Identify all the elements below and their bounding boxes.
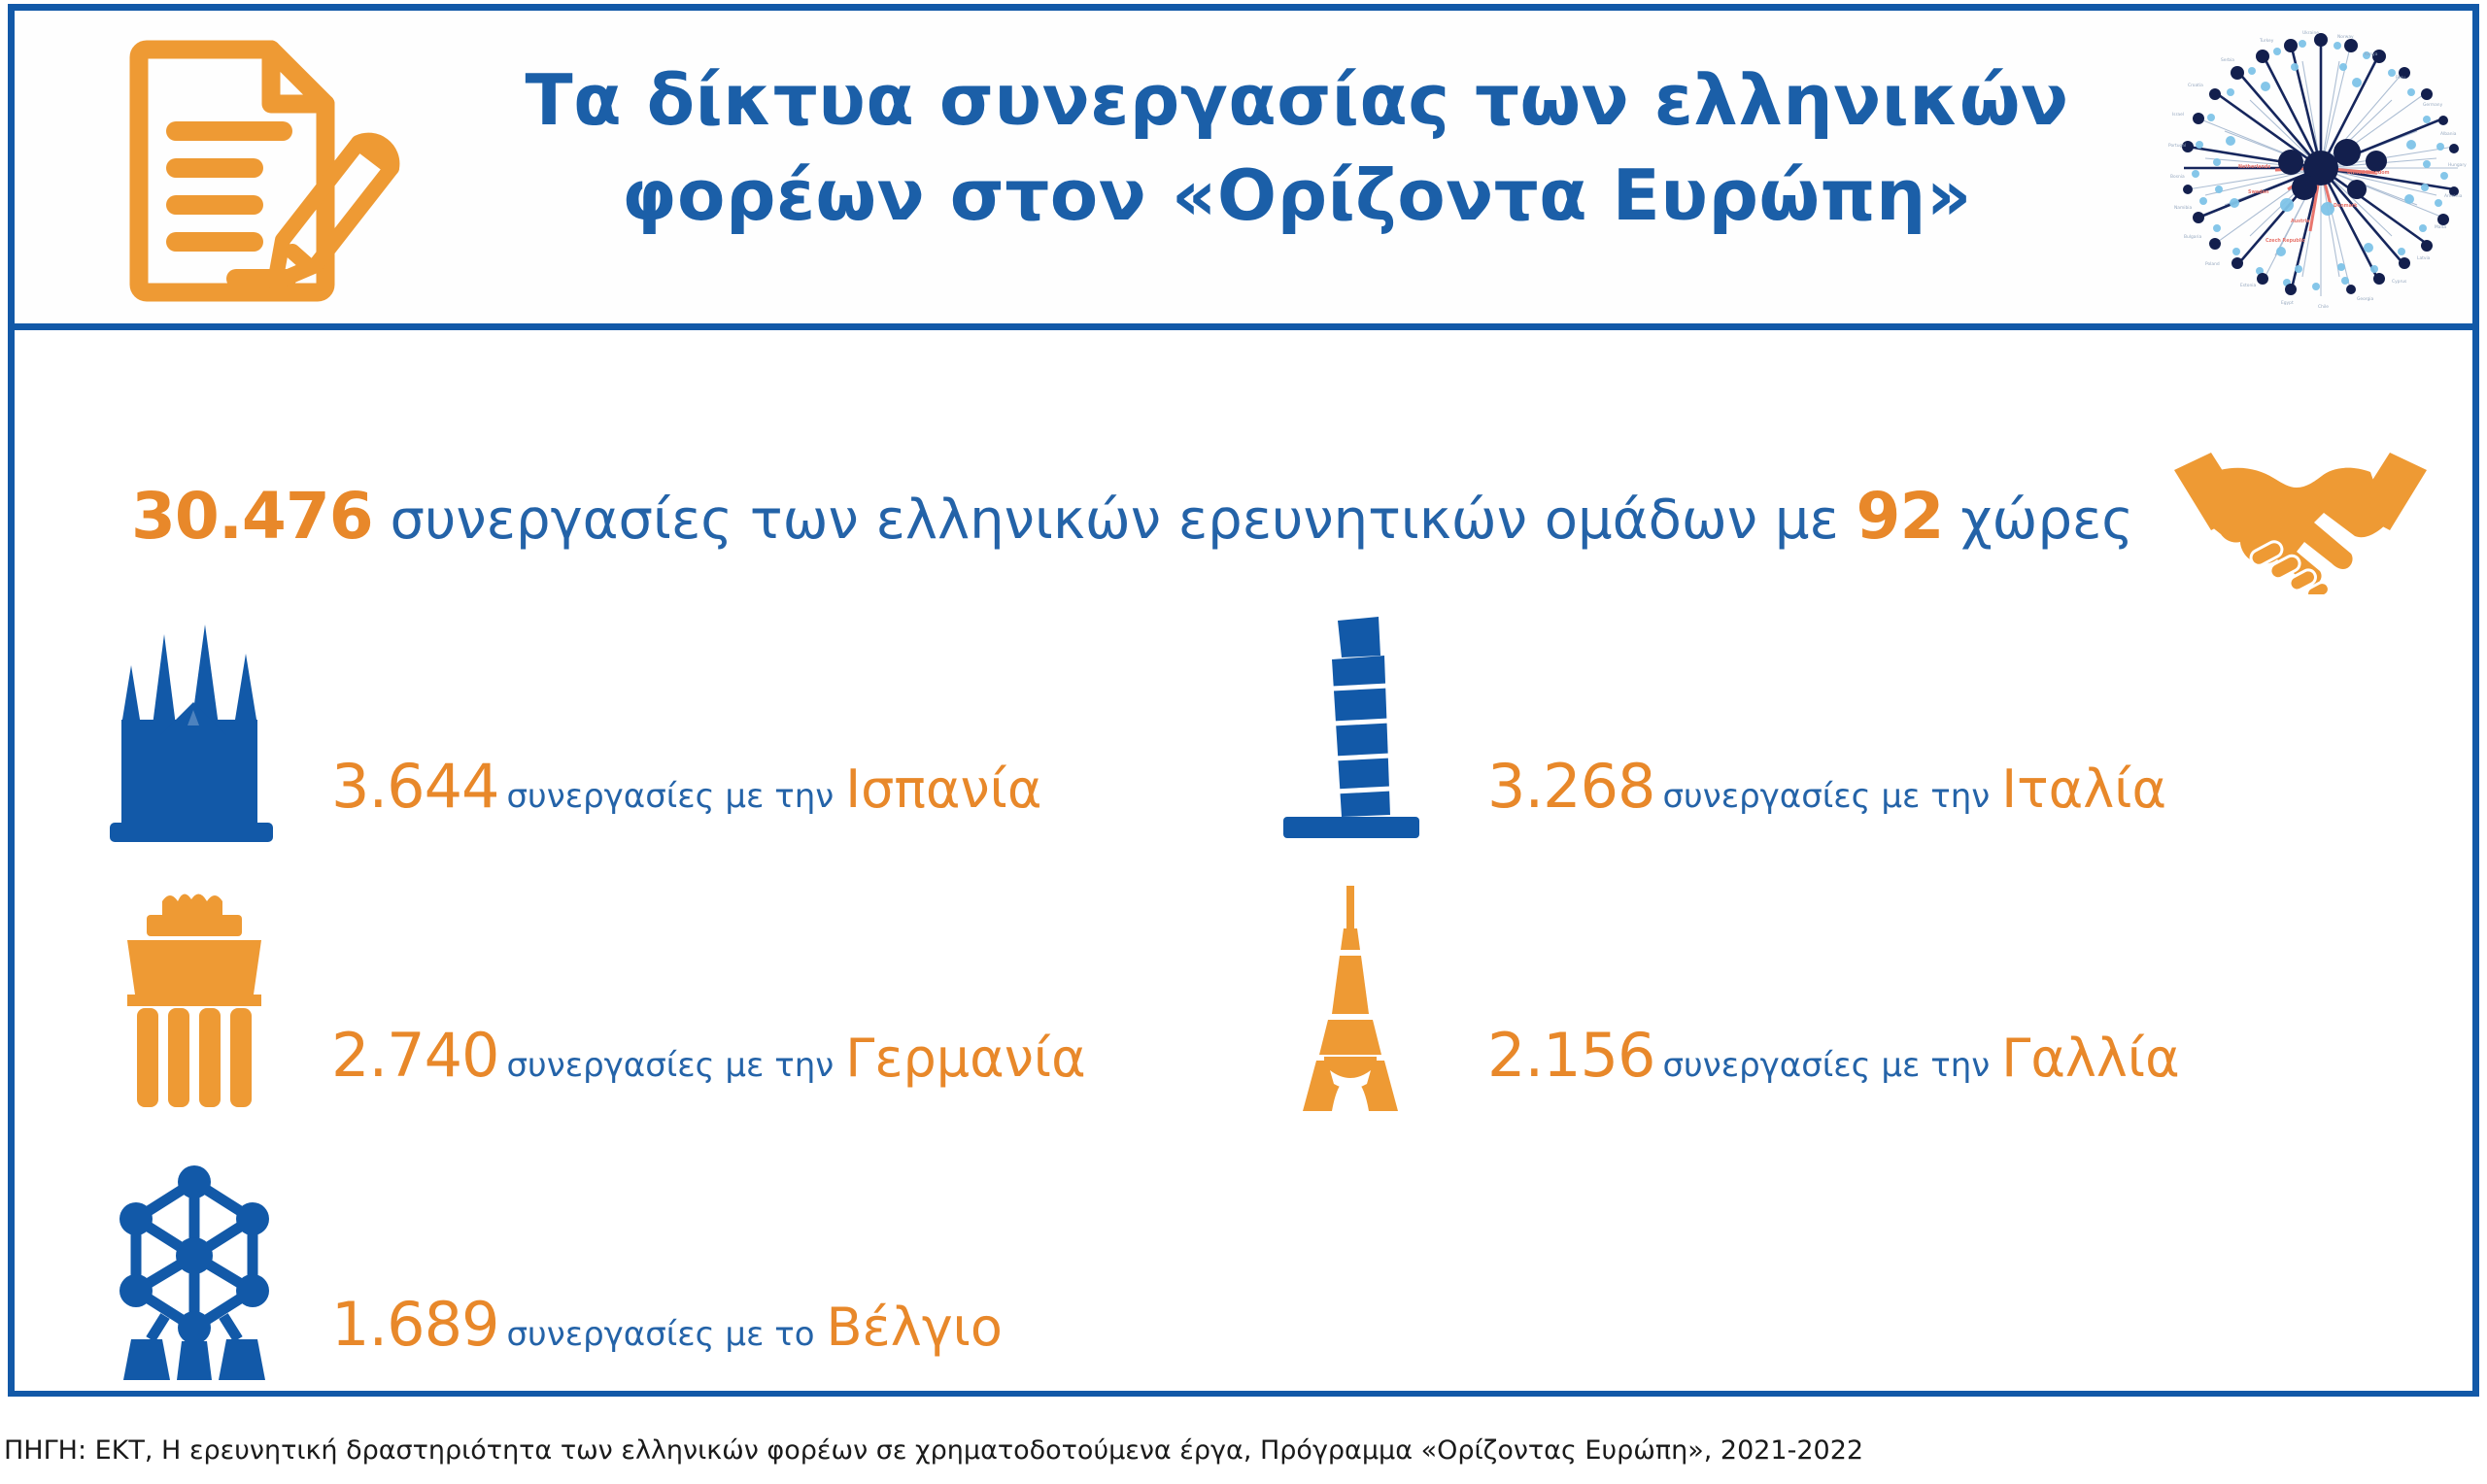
headline-mid-text: συνεργασίες των ελληνικών ερευνητικών ομ… (391, 489, 1839, 552)
document-pencil-icon (119, 28, 411, 312)
country-name: Γερμανία (845, 1028, 1086, 1089)
country-row-3: 1.689συνεργασίες με τοΒέλγιο (15, 1123, 2472, 1392)
svg-text:Austria: Austria (2291, 219, 2310, 224)
country-name: Γαλλία (2001, 1028, 2179, 1089)
country-value: 1.689 (331, 1289, 499, 1360)
country-cell-france: 2.156συνεργασίες με τηνΓαλλία (1248, 854, 2180, 1123)
country-text-italy: 3.268συνεργασίες με τηνΙταλία (1487, 757, 2166, 817)
title-line-2: φορέων στον «Ορίζοντα Ευρώπη» (471, 149, 2123, 244)
country-cell-italy: 3.268συνεργασίες με τηνΙταλία (1248, 585, 2166, 854)
country-text-spain: 3.644συνεργασίες με τηνΙσπανία (331, 757, 1042, 817)
svg-text:Namibia: Namibia (2174, 205, 2192, 211)
title-line-1: Τα δίκτυα συνεργασίας των ελληνικών (471, 53, 2123, 149)
svg-text:Poland: Poland (2205, 261, 2220, 267)
country-middle-text: συνεργασίες με την (507, 1046, 835, 1085)
country-row-2: 2.740συνεργασίες με τηνΓερμανία (15, 854, 2472, 1123)
country-text-belgium: 1.689συνεργασίες με τοΒέλγιο (331, 1295, 1003, 1355)
svg-text:Israel: Israel (2172, 112, 2184, 118)
country-text-france: 2.156συνεργασίες με τηνΓαλλία (1487, 1026, 2180, 1086)
country-cell-belgium: 1.689συνεργασίες με τοΒέλγιο (92, 1123, 1003, 1392)
leaning-tower-of-pisa-icon (1248, 611, 1452, 854)
country-value: 2.156 (1487, 1020, 1655, 1091)
svg-text:Netherlands: Netherlands (2238, 164, 2270, 170)
svg-text:Georgia: Georgia (2357, 296, 2374, 302)
country-name: Βέλγιο (827, 1297, 1003, 1358)
svg-text:Sweden: Sweden (2248, 189, 2269, 195)
svg-text:Turkey: Turkey (2259, 38, 2274, 44)
svg-text:Germany: Germany (2423, 102, 2443, 108)
country-text-germany: 2.740συνεργασίες με τηνΓερμανία (331, 1026, 1086, 1086)
page-title: Τα δίκτυα συνεργασίας των ελληνικών φορέ… (471, 53, 2123, 244)
svg-text:Ukraine: Ukraine (2302, 30, 2319, 36)
headline-end-text: χώρες (1960, 489, 2133, 552)
svg-text:Portugal: Portugal (2168, 143, 2186, 149)
eiffel-tower-icon (1248, 880, 1452, 1123)
source-note: ΠΗΓΗ: ΕΚΤ, Η ερευνητική δραστηριότητα τω… (4, 1435, 1863, 1466)
country-cell-spain: 3.644συνεργασίες με τηνΙσπανία (92, 585, 1042, 854)
total-countries-value: 92 (1857, 479, 1944, 554)
country-middle-text: συνεργασίες με την (507, 777, 835, 816)
network-graph-icon: UkraineTurkeySerbia CroatiaIsraelPortuga… (2166, 22, 2475, 316)
sagrada-familia-icon (92, 611, 296, 854)
headline-stat-row: 30.476 συνεργασίες των ελληνικών ερευνητ… (131, 439, 2152, 594)
svg-text:Bulgaria: Bulgaria (2184, 234, 2202, 240)
country-middle-text: συνεργασίες με την (1663, 777, 1991, 816)
svg-text:Malta: Malta (2435, 224, 2446, 230)
country-middle-text: συνεργασίες με την (1663, 1046, 1991, 1085)
svg-text:Armenia: Armenia (2444, 193, 2463, 199)
svg-text:Egypt: Egypt (2281, 300, 2294, 306)
header-band: Τα δίκτυα συνεργασίας των ελληνικών φορέ… (15, 11, 2472, 330)
atomium-icon (92, 1149, 296, 1392)
total-collaborations-value: 30.476 (131, 479, 373, 554)
svg-text:Hungary: Hungary (2448, 162, 2467, 168)
country-value: 3.644 (331, 751, 499, 822)
svg-text:Norway: Norway (2337, 34, 2354, 40)
svg-text:Croatia: Croatia (2188, 83, 2203, 88)
svg-text:Kenya: Kenya (2365, 51, 2378, 57)
svg-text:Albania: Albania (2440, 131, 2457, 137)
country-name: Ιταλία (2001, 759, 2166, 820)
svg-text:Czech Republic: Czech Republic (2266, 238, 2305, 244)
headline-text: 30.476 συνεργασίες των ελληνικών ερευνητ… (131, 485, 2133, 549)
handshake-icon (2168, 439, 2433, 594)
svg-text:United Kingdom: United Kingdom (2347, 170, 2390, 176)
svg-text:Denmark: Denmark (2334, 203, 2358, 209)
svg-text:Latvia: Latvia (2417, 255, 2431, 261)
body-area: 30.476 συνεργασίες των ελληνικών ερευνητ… (15, 337, 2472, 1391)
main-frame: Τα δίκτυα συνεργασίας των ελληνικών φορέ… (8, 4, 2479, 1397)
country-name: Ισπανία (845, 759, 1041, 820)
svg-text:Cyprus: Cyprus (2392, 279, 2407, 285)
brandenburg-gate-icon (92, 880, 296, 1123)
country-cell-germany: 2.740συνεργασίες με τηνΓερμανία (92, 854, 1086, 1123)
svg-text:Chile: Chile (2318, 304, 2329, 310)
svg-text:Serbia: Serbia (2221, 57, 2234, 63)
country-value: 3.268 (1487, 751, 1655, 822)
country-grid: 3.644συνεργασίες με τηνΙσπανία (15, 585, 2472, 1392)
svg-text:Peru: Peru (2396, 75, 2405, 81)
svg-text:Estonia: Estonia (2240, 283, 2256, 288)
country-middle-text: συνεργασίες με το (507, 1315, 815, 1354)
svg-text:Bosnia: Bosnia (2170, 174, 2185, 180)
infographic-poster: Τα δίκτυα συνεργασίας των ελληνικών φορέ… (0, 0, 2487, 1484)
country-row-1: 3.644συνεργασίες με τηνΙσπανία (15, 585, 2472, 854)
country-value: 2.740 (331, 1020, 499, 1091)
